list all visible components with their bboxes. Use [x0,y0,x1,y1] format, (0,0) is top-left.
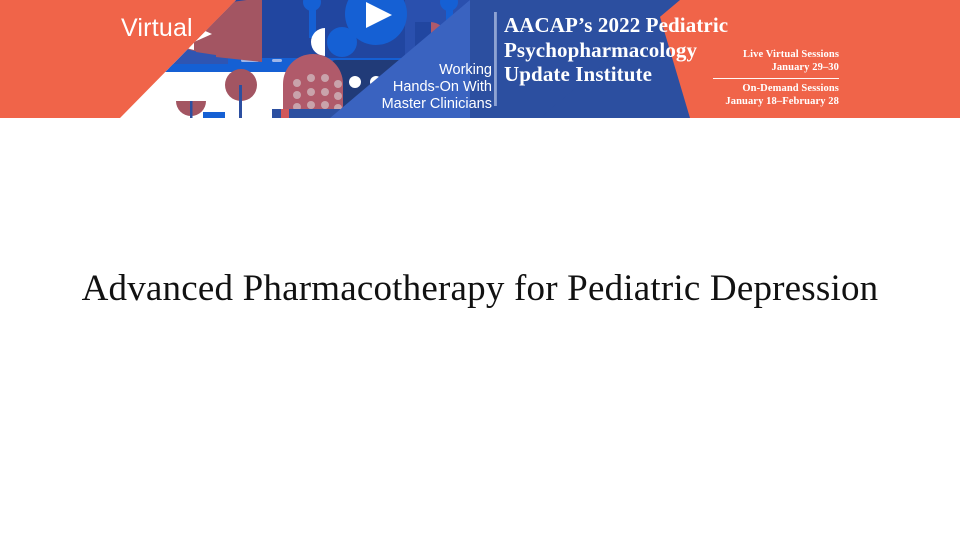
banner-tagline: Working Hands-On With Master Clinicians [277,62,492,113]
institute-line-3: Update Institute [504,62,728,87]
on-demand-heading: On-Demand Sessions [713,83,839,96]
on-demand-dates: January 18–February 28 [713,96,839,109]
live-sessions-dates: January 29–30 [713,62,839,75]
tagline-line-2: Hands-On With [277,79,492,96]
tagline-line-1: Working [277,62,492,79]
dates-divider [713,78,839,79]
institute-line-2: Psychopharmacology [504,38,728,63]
institute-line-1: AACAP’s 2022 Pediatric [504,13,728,38]
banner-institute-title: AACAP’s 2022 Pediatric Psychopharmacolog… [504,13,728,87]
conference-banner: Virtual Working Hands-On With Master Cli… [0,0,960,118]
title-placeholder: Advanced Pharmacotherapy for Pediatric D… [60,262,900,315]
page-title: Advanced Pharmacotherapy for Pediatric D… [60,262,900,315]
banner-session-dates: Live Virtual Sessions January 29–30 On-D… [713,49,839,108]
tagline-line-3: Master Clinicians [277,96,492,113]
live-sessions-heading: Live Virtual Sessions [713,49,839,62]
slide-canvas: Virtual Working Hands-On With Master Cli… [0,0,960,540]
banner-divider-rule-inner [495,12,497,106]
virtual-label: Virtual [121,14,193,43]
